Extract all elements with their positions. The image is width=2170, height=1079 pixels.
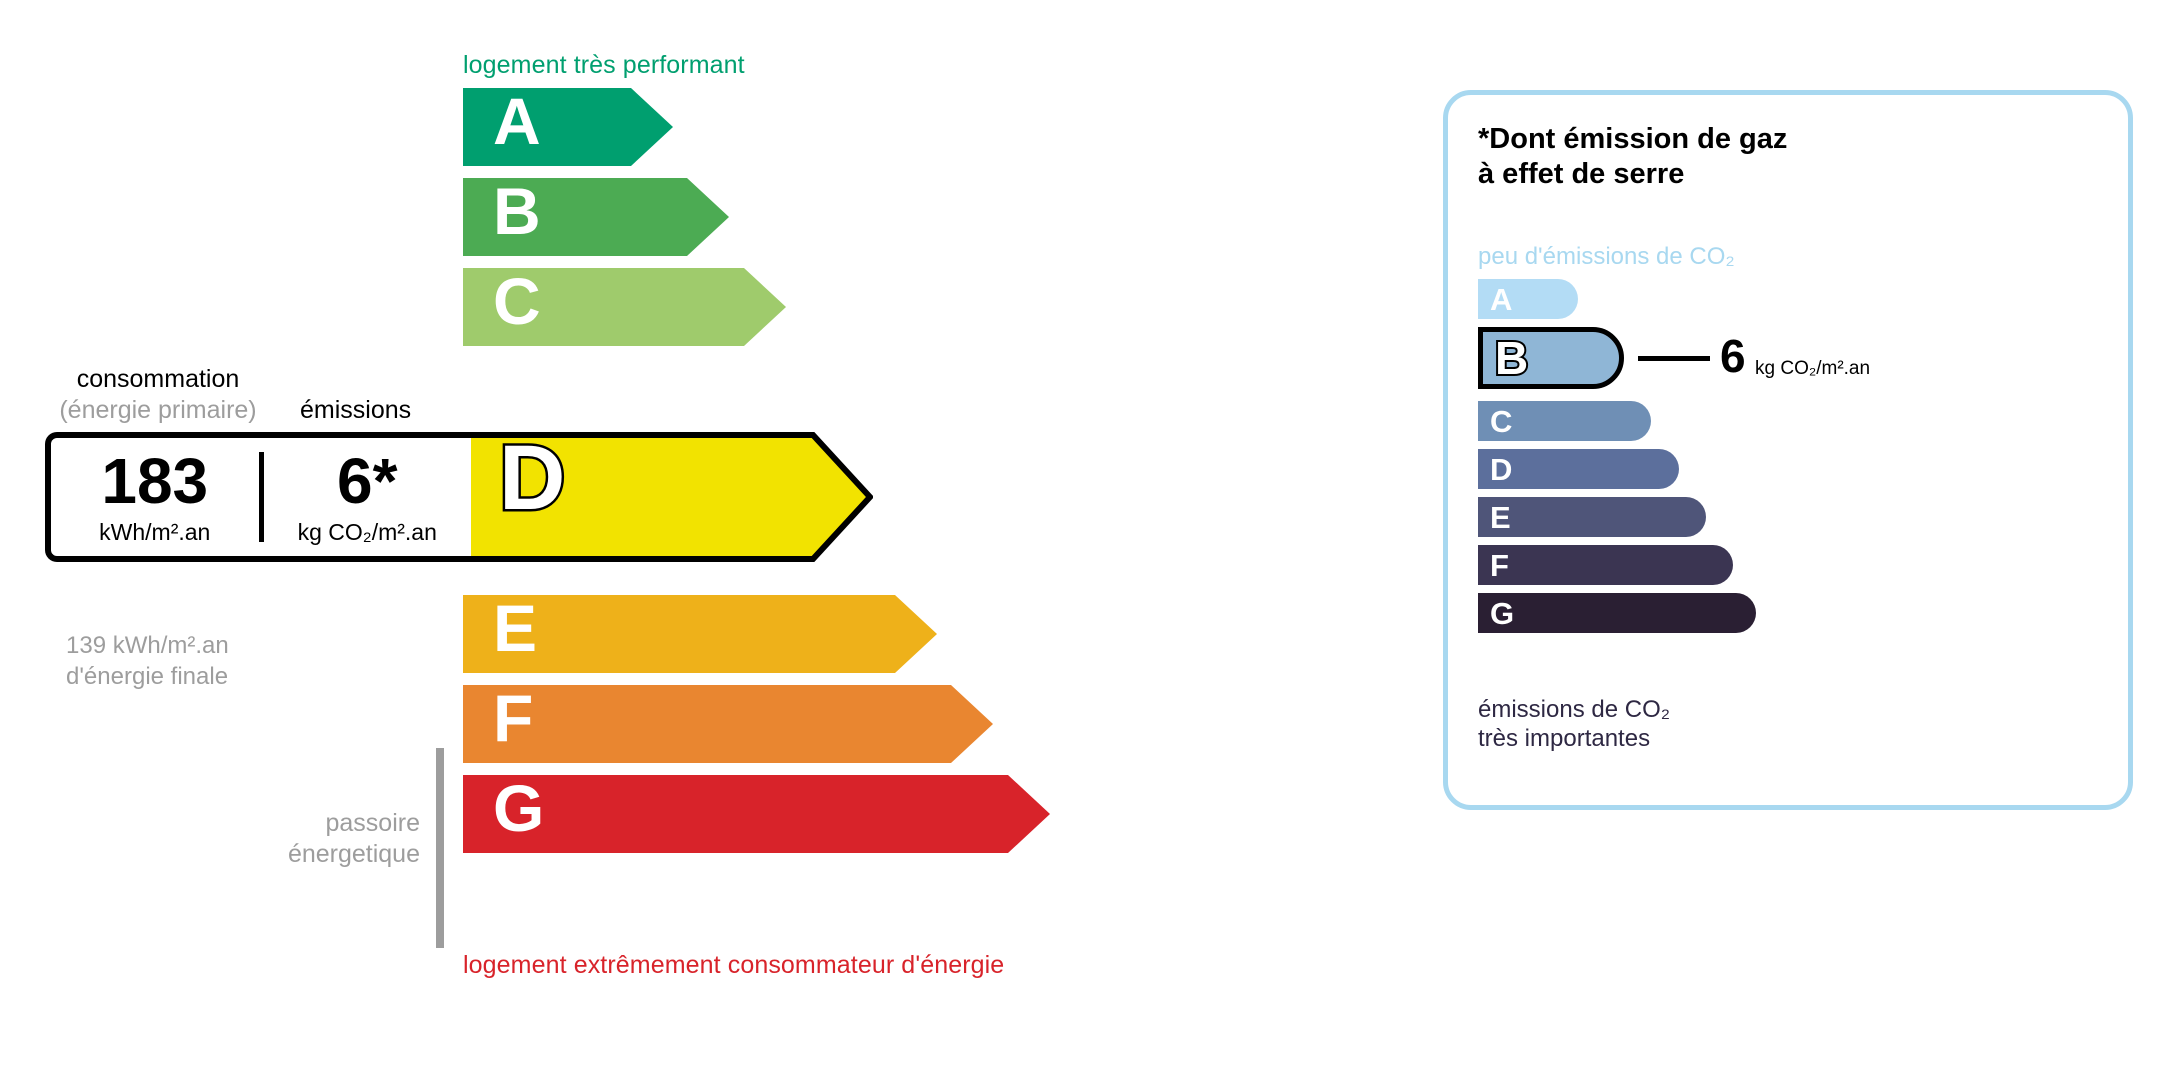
co2-bottom-label: émissions de CO₂très importantes bbox=[1478, 695, 1670, 754]
co2-callout-unit: kg CO₂/m².an bbox=[1755, 359, 1870, 378]
co2-class-row-d: D bbox=[1478, 449, 1679, 489]
scale-caption-bottom: logement extrêmement consommateur d'éner… bbox=[463, 951, 1004, 980]
emission-number: 6* bbox=[337, 449, 398, 513]
energy-class-row-g: G bbox=[463, 775, 1050, 853]
co2-bar-e: E bbox=[1478, 497, 1706, 537]
energy-class-row-f: F bbox=[463, 685, 993, 763]
co2-class-letter-e: E bbox=[1490, 502, 1511, 533]
co2-top-label: peu d'émissions de CO₂ bbox=[1478, 243, 1735, 271]
energy-value-box: 183 kWh/m².an 6* kg CO₂/m².an bbox=[45, 432, 471, 562]
energy-performance-scale: logement très performant ABCDEFG 183 kWh… bbox=[0, 0, 1380, 1079]
energy-class-letter-g: G bbox=[493, 775, 1050, 841]
label-energie-finale: 139 kWh/m².and'énergie finale bbox=[66, 631, 229, 692]
co2-panel-title: *Dont émission de gazà effet de serre bbox=[1478, 122, 1787, 193]
co2-bar-d: D bbox=[1478, 449, 1679, 489]
energy-class-row-c: C bbox=[463, 268, 786, 346]
consumption-number: 183 bbox=[101, 449, 208, 513]
energy-class-letter-b: B bbox=[493, 178, 729, 244]
co2-emissions-panel: *Dont émission de gazà effet de serre pe… bbox=[1443, 90, 2133, 810]
co2-class-row-b: B bbox=[1478, 327, 1624, 389]
co2-bar-c: C bbox=[1478, 401, 1651, 441]
co2-class-row-f: F bbox=[1478, 545, 1733, 585]
co2-class-letter-d: D bbox=[1490, 454, 1512, 485]
co2-callout-line bbox=[1638, 356, 1710, 361]
co2-bar-b: B bbox=[1478, 327, 1624, 389]
co2-class-row-a: A bbox=[1478, 279, 1578, 319]
co2-class-row-e: E bbox=[1478, 497, 1706, 537]
label-consommation: consommation bbox=[48, 365, 268, 394]
energy-class-letter-a: A bbox=[493, 88, 673, 154]
scale-caption-top: logement très performant bbox=[463, 51, 745, 80]
emission-value-cell: 6* kg CO₂/m².an bbox=[264, 438, 472, 556]
passoire-label-line1: passoire bbox=[180, 808, 420, 839]
emission-unit: kg CO₂/m².an bbox=[298, 519, 437, 546]
passoire-indicator-bar bbox=[436, 748, 444, 948]
energy-class-letter-e: E bbox=[493, 595, 937, 661]
label-emissions: émissions bbox=[300, 396, 411, 425]
co2-bar-f: F bbox=[1478, 545, 1733, 585]
co2-class-letter-b: B bbox=[1495, 335, 1528, 381]
energy-class-row-a: A bbox=[463, 88, 673, 166]
passoire-label-line2: énergetique bbox=[180, 839, 420, 870]
consumption-value-cell: 183 kWh/m².an bbox=[51, 438, 259, 556]
label-energie-primaire: (énergie primaire) bbox=[40, 396, 276, 425]
energy-class-letter-c: C bbox=[493, 268, 786, 334]
energy-class-row-e: E bbox=[463, 595, 937, 673]
co2-class-letter-c: C bbox=[1490, 406, 1512, 437]
passoire-label: passoire énergetique bbox=[180, 808, 420, 871]
energy-class-letter-d: D bbox=[499, 432, 873, 524]
energy-class-letter-f: F bbox=[493, 685, 993, 751]
co2-class-letter-f: F bbox=[1490, 550, 1509, 581]
co2-class-letter-g: G bbox=[1490, 598, 1514, 629]
energy-class-row-d: D bbox=[463, 432, 873, 562]
co2-class-letter-a: A bbox=[1490, 284, 1512, 315]
co2-class-row-g: G bbox=[1478, 593, 1756, 633]
co2-bar-a: A bbox=[1478, 279, 1578, 319]
co2-class-row-c: C bbox=[1478, 401, 1651, 441]
co2-callout-value: 6 bbox=[1720, 333, 1746, 379]
consumption-unit: kWh/m².an bbox=[99, 519, 210, 546]
co2-bar-g: G bbox=[1478, 593, 1756, 633]
energy-class-row-b: B bbox=[463, 178, 729, 256]
